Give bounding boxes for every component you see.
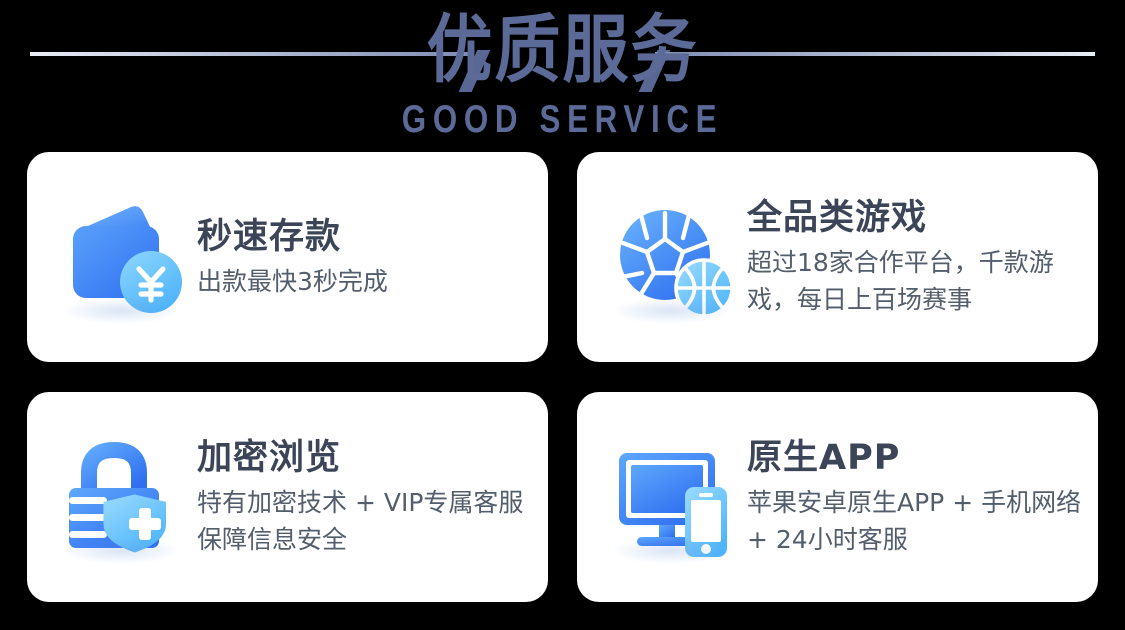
card-title: 全品类游戏 [747,196,1084,240]
wallet-yen-icon [53,182,193,332]
feature-card-deposit[interactable]: 秒速存款 出款最快3秒完成 [27,152,548,362]
page-title: 优质服务 [0,8,1125,93]
card-description: 超过18家合作平台，千款游戏，每日上百场赛事 [747,244,1084,318]
card-text: 全品类游戏 超过18家合作平台，千款游戏，每日上百场赛事 [743,196,1098,318]
feature-card-encryption[interactable]: 加密浏览 特有加密技术 + VIP专属客服保障信息安全 [27,392,548,602]
card-title: 加密浏览 [197,436,534,480]
card-description: 苹果安卓原生APP + 手机网络 + 24小时客服 [747,484,1084,558]
card-text: 秒速存款 出款最快3秒完成 [193,215,548,300]
page-header: 优质服务 GOOD SERVICE [0,0,1125,152]
card-title: 原生APP [747,436,1084,480]
lock-shield-icon [53,422,193,572]
card-description: 特有加密技术 + VIP专属客服保障信息安全 [197,484,534,558]
monitor-phone-icon [603,422,743,572]
feature-card-grid: 秒速存款 出款最快3秒完成 [27,152,1098,602]
feature-card-games[interactable]: 全品类游戏 超过18家合作平台，千款游戏，每日上百场赛事 [577,152,1098,362]
card-title: 秒速存款 [197,215,534,259]
feature-card-native-app[interactable]: 原生APP 苹果安卓原生APP + 手机网络 + 24小时客服 [577,392,1098,602]
page-subtitle: GOOD SERVICE [28,98,1097,140]
card-text: 原生APP 苹果安卓原生APP + 手机网络 + 24小时客服 [743,436,1098,558]
card-description: 出款最快3秒完成 [197,263,534,300]
soccer-basketball-icon [603,182,743,332]
card-text: 加密浏览 特有加密技术 + VIP专属客服保障信息安全 [193,436,548,558]
